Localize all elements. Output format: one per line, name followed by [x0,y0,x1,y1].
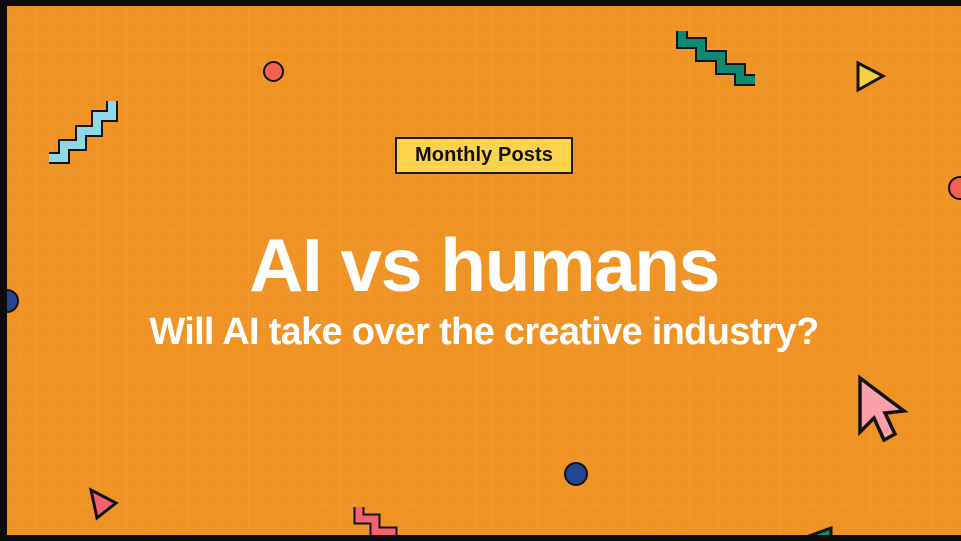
category-badge-label: Monthly Posts [415,144,553,166]
slide-title: AI vs humans [7,228,961,303]
slide-canvas: Monthly Posts AI vs humans Will AI take … [7,6,961,535]
slide-subtitle: Will AI take over the creative industry? [7,313,961,351]
presentation-slide: Monthly Posts AI vs humans Will AI take … [0,0,961,541]
slide-content: Monthly Posts AI vs humans Will AI take … [7,6,961,535]
category-badge: Monthly Posts [395,137,573,174]
